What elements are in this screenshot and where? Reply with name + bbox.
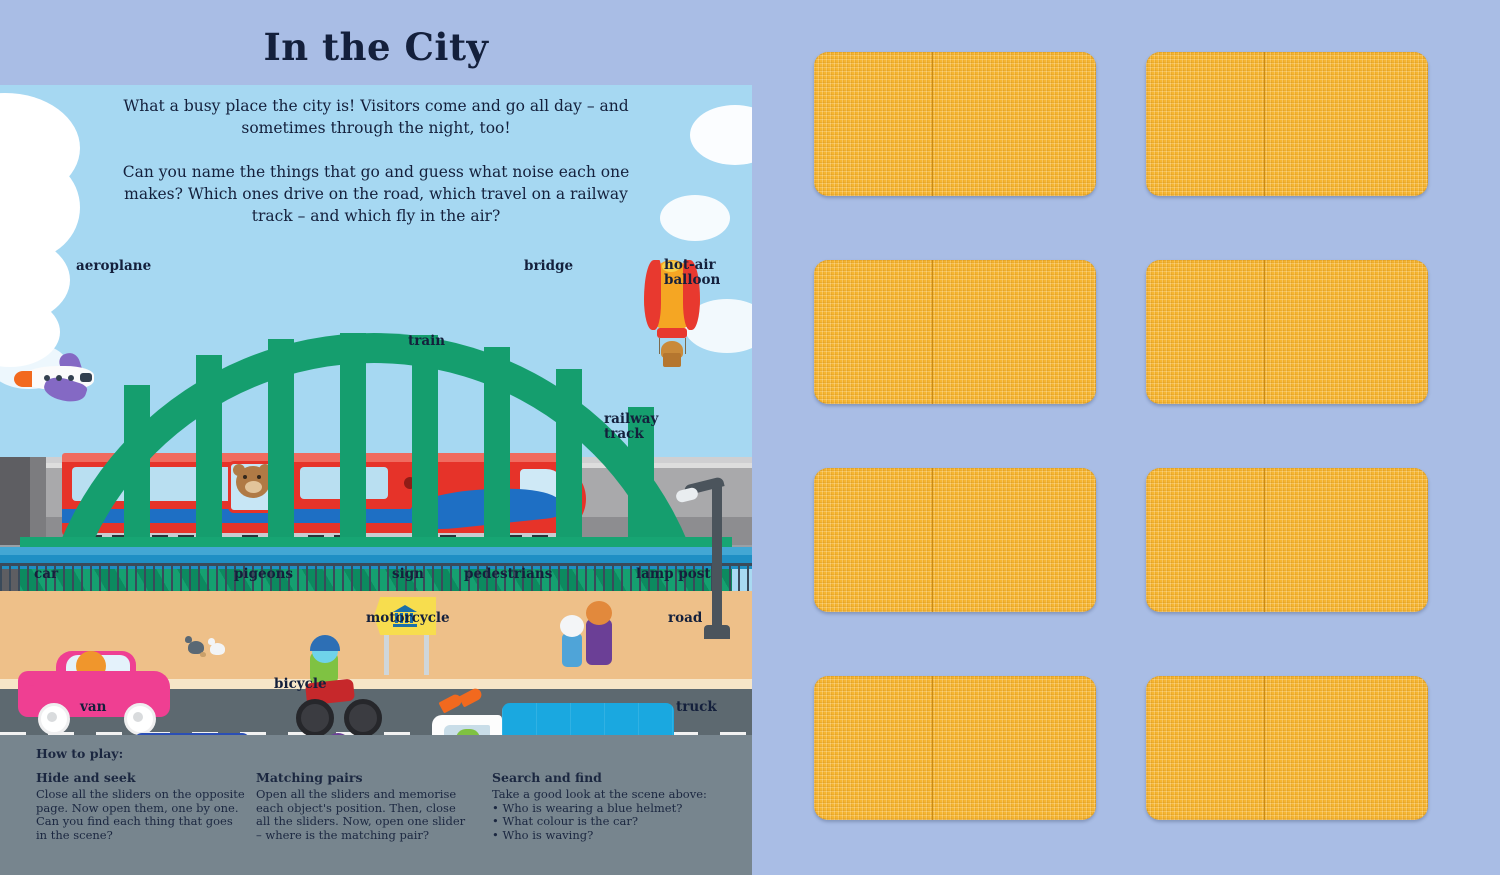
label-pigeons: pigeons [234,567,293,582]
list-item: • What colour is the car? [492,815,732,829]
slider-tile[interactable] [814,260,1096,404]
intro-paragraph-1: What a busy place the city is! Visitors … [106,95,646,139]
intro-paragraph-2: Can you name the things that go and gues… [106,161,646,227]
scene-illustration: What a busy place the city is! Visitors … [0,85,752,735]
slider-seam [932,468,933,612]
slider-tile[interactable] [814,52,1096,196]
label-aeroplane: aeroplane [76,259,151,274]
how-to-play-heading: How to play: [36,746,123,761]
cloud-icon [660,195,730,241]
label-pedestrians: pedestrians [464,567,552,582]
slider-seam [1264,260,1265,404]
slider-tile[interactable] [1146,260,1428,404]
slider-grid [752,0,1500,875]
slider-seam [932,260,933,404]
slider-tile[interactable] [814,468,1096,612]
instruction-title: Matching pairs [256,770,471,785]
instructions-panel: How to play: Hide and seek Close all the… [0,735,752,875]
label-bicycle: bicycle [274,677,327,692]
left-page: In the City [0,0,752,875]
instruction-body: Take a good look at the scene above: [492,788,732,802]
instruction-column-matching-pairs: Matching pairs Open all the sliders and … [256,770,471,842]
slider-texture [814,676,1096,820]
river-highlight [0,547,752,555]
slider-texture [1146,468,1428,612]
label-lamp-post: lamp post [636,567,711,582]
slider-seam [1264,468,1265,612]
slider-texture [1146,52,1428,196]
slider-tile[interactable] [814,676,1096,820]
right-page [752,0,1500,875]
slider-seam [1264,52,1265,196]
instruction-body: Close all the sliders on the opposite pa… [36,788,246,842]
slider-texture [814,468,1096,612]
label-sign: sign [392,567,424,582]
label-railway-track: railway track [604,412,658,442]
label-truck: truck [676,700,717,715]
list-item: • Who is wearing a blue helmet? [492,802,732,816]
search-and-find-questions: • Who is wearing a blue helmet? • What c… [492,802,732,843]
slider-texture [1146,676,1428,820]
slider-texture [814,260,1096,404]
list-item: • Who is waving? [492,829,732,843]
slider-seam [932,676,933,820]
instruction-title: Hide and seek [36,770,246,785]
intro-text-block: What a busy place the city is! Visitors … [106,95,646,227]
slider-seam [932,52,933,196]
instruction-column-search-and-find: Search and find Take a good look at the … [492,770,732,842]
slider-tile[interactable] [1146,52,1428,196]
page-title: In the City [0,25,752,69]
label-car: car [34,567,58,582]
label-train: train [408,334,445,349]
label-motorcycle: motorcycle [366,611,450,626]
book-spread: In the City [0,0,1500,875]
slider-tile[interactable] [1146,676,1428,820]
slider-texture [814,52,1096,196]
instruction-column-hide-and-seek: Hide and seek Close all the sliders on t… [36,770,246,842]
label-bridge: bridge [524,259,573,274]
instruction-title: Search and find [492,770,732,785]
slider-seam [1264,676,1265,820]
label-van: van [80,700,106,715]
label-road: road [668,611,702,626]
instruction-body: Open all the sliders and memorise each o… [256,788,471,842]
slider-tile[interactable] [1146,468,1428,612]
label-hot-air-balloon: hot-air balloon [664,258,720,288]
slider-texture [1146,260,1428,404]
title-band: In the City [0,0,752,85]
